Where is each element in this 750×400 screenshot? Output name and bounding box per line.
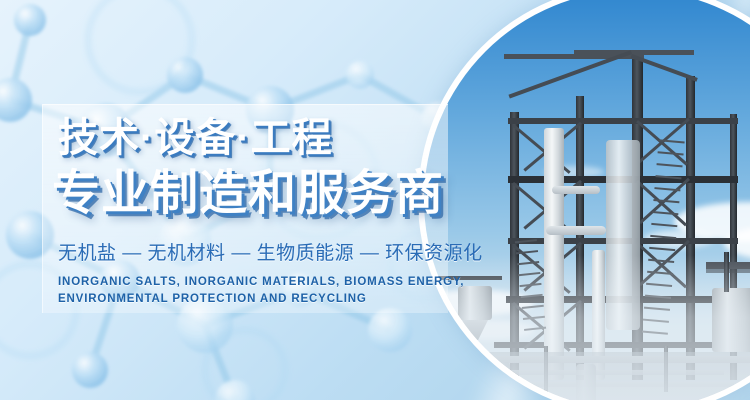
subtitle-chinese: 无机盐 — 无机材料 — 生物质能源 — 环保资源化	[58, 238, 472, 265]
banner-text-block: 技术·设备·工程 专业制造和服务商 无机盐 — 无机材料 — 生物质能源 — 环…	[52, 104, 472, 307]
promo-banner: 技术·设备·工程 专业制造和服务商 无机盐 — 无机材料 — 生物质能源 — 环…	[0, 0, 750, 400]
industrial-plant-photo	[424, 0, 750, 400]
subtitle-english: INORGANIC SALTS, INORGANIC MATERIALS, BI…	[58, 274, 466, 307]
headline-line-2: 专业制造和服务商	[52, 170, 472, 218]
headline-line-1: 技术·设备·工程	[58, 118, 472, 158]
horizon-haze	[424, 255, 750, 400]
